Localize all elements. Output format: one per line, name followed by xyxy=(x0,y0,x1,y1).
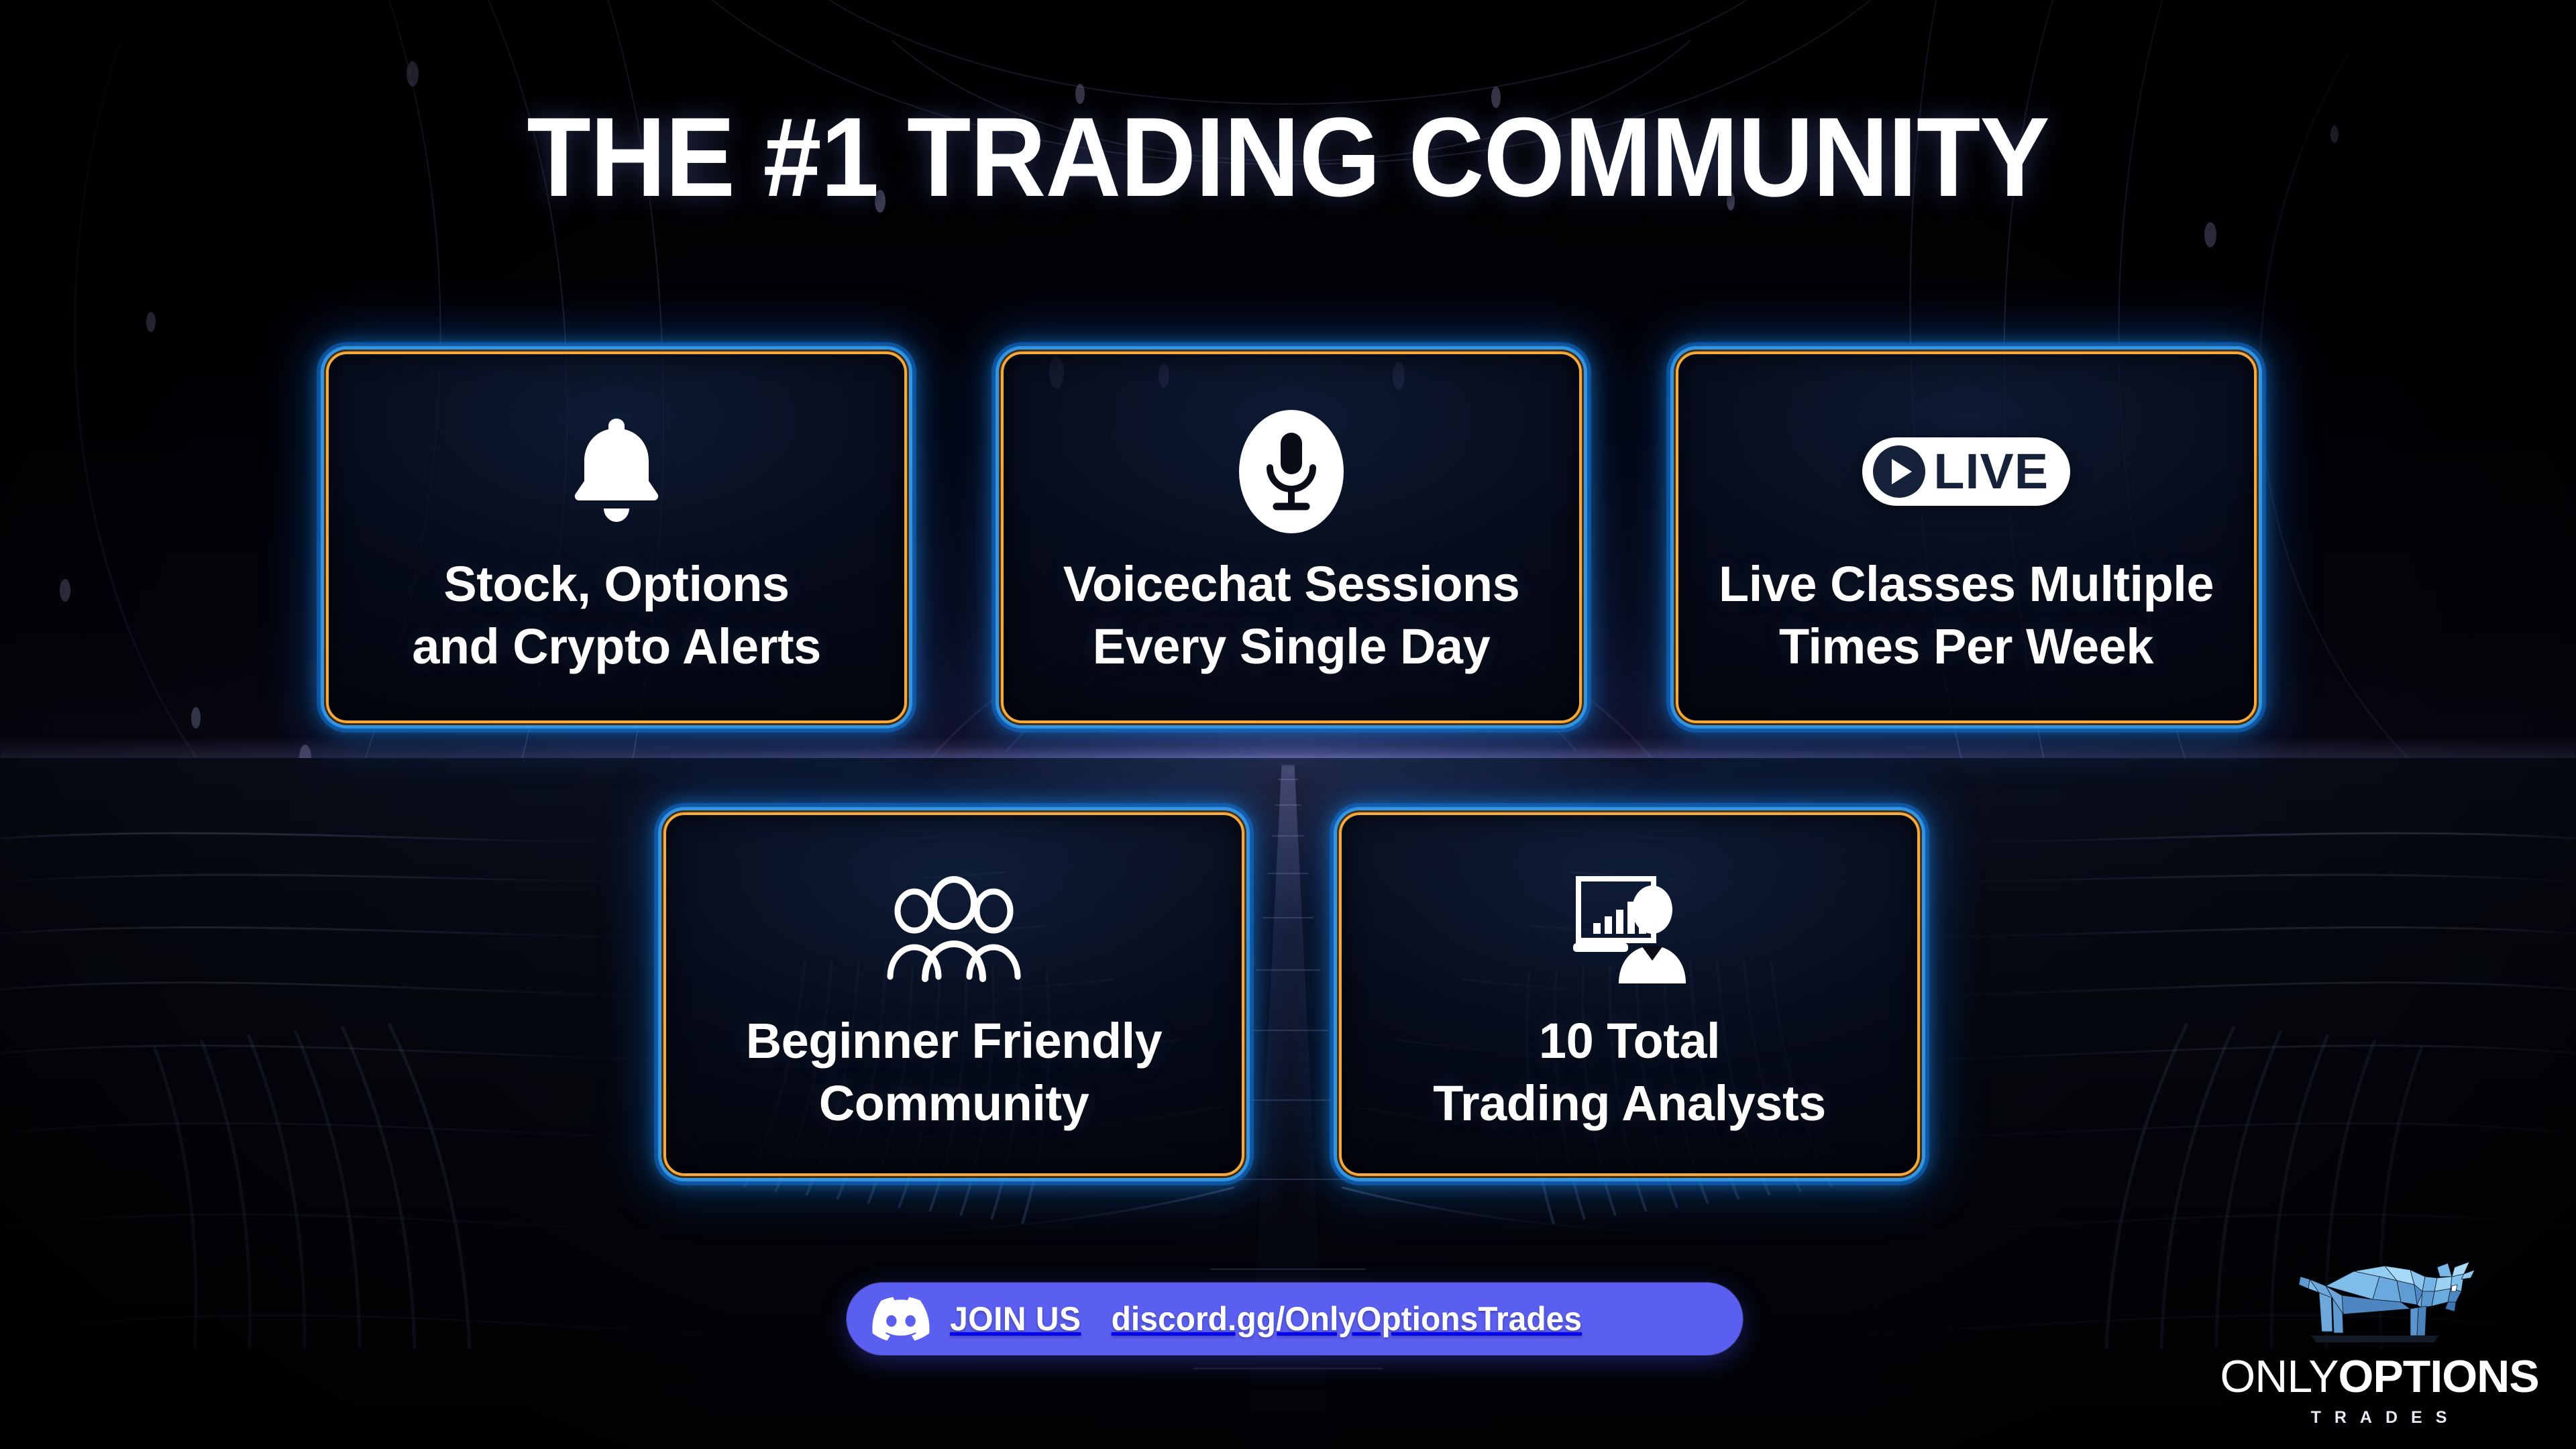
microphone-icon xyxy=(1226,394,1357,549)
card-caption-line2: Community xyxy=(746,1072,1163,1134)
card-caption-line2: Trading Analysts xyxy=(1433,1072,1826,1134)
bell-icon xyxy=(566,394,667,549)
card-caption-line1: Voicechat Sessions xyxy=(1063,553,1520,615)
brand-trades-text: TRADES xyxy=(2311,1408,2461,1428)
live-badge-label: LIVE xyxy=(1933,447,2049,496)
brand-options-text: OPTIONS xyxy=(2339,1354,2539,1399)
feature-card-alerts[interactable]: Stock, Options and Crypto Alerts xyxy=(324,350,909,725)
discord-logo-icon xyxy=(872,1297,930,1341)
card-caption: 10 Total Trading Analysts xyxy=(1433,1010,1826,1134)
analyst-chart-person-icon xyxy=(1562,851,1697,1006)
join-us-label: JOIN US xyxy=(950,1299,1081,1338)
card-caption-line1: Beginner Friendly xyxy=(746,1010,1163,1072)
card-caption-line1: Live Classes Multiple xyxy=(1719,553,2214,615)
discord-url-label: discord.gg/OnlyOptionsTrades xyxy=(1111,1299,1581,1338)
discord-join-button[interactable]: JOIN US discord.gg/OnlyOptionsTrades xyxy=(847,1283,1743,1355)
card-caption-line2: Times Per Week xyxy=(1719,615,2214,678)
people-group-icon xyxy=(885,851,1023,1006)
live-badge: LIVE xyxy=(1862,437,2070,506)
card-caption: Voicechat Sessions Every Single Day xyxy=(1063,553,1520,678)
play-icon xyxy=(1873,445,1925,498)
low-poly-bull-icon xyxy=(2279,1247,2480,1351)
feature-card-live-classes[interactable]: LIVE Live Classes Multiple Times Per Wee… xyxy=(1674,350,2259,725)
brand-logo: ONLY OPTIONS TRADES xyxy=(2235,1247,2524,1428)
card-caption: Stock, Options and Crypto Alerts xyxy=(412,553,821,678)
card-caption-line2: and Crypto Alerts xyxy=(412,615,821,678)
feature-card-voicechat[interactable]: Voicechat Sessions Every Single Day xyxy=(999,350,1584,725)
card-caption: Live Classes Multiple Times Per Week xyxy=(1719,553,2214,678)
card-caption: Beginner Friendly Community xyxy=(746,1010,1163,1134)
feature-card-beginner-friendly[interactable]: Beginner Friendly Community xyxy=(661,810,1246,1178)
page-title: THE #1 TRADING COMMUNITY xyxy=(90,101,2485,213)
feature-card-analysts[interactable]: 10 Total Trading Analysts xyxy=(1337,810,1922,1178)
brand-only-text: ONLY xyxy=(2220,1354,2338,1399)
card-caption-line2: Every Single Day xyxy=(1063,615,1520,678)
card-caption-line1: 10 Total xyxy=(1433,1010,1826,1072)
live-badge-icon: LIVE xyxy=(1862,394,2070,549)
card-caption-line1: Stock, Options xyxy=(412,553,821,615)
brand-wordmark: ONLY OPTIONS xyxy=(2220,1354,2538,1399)
